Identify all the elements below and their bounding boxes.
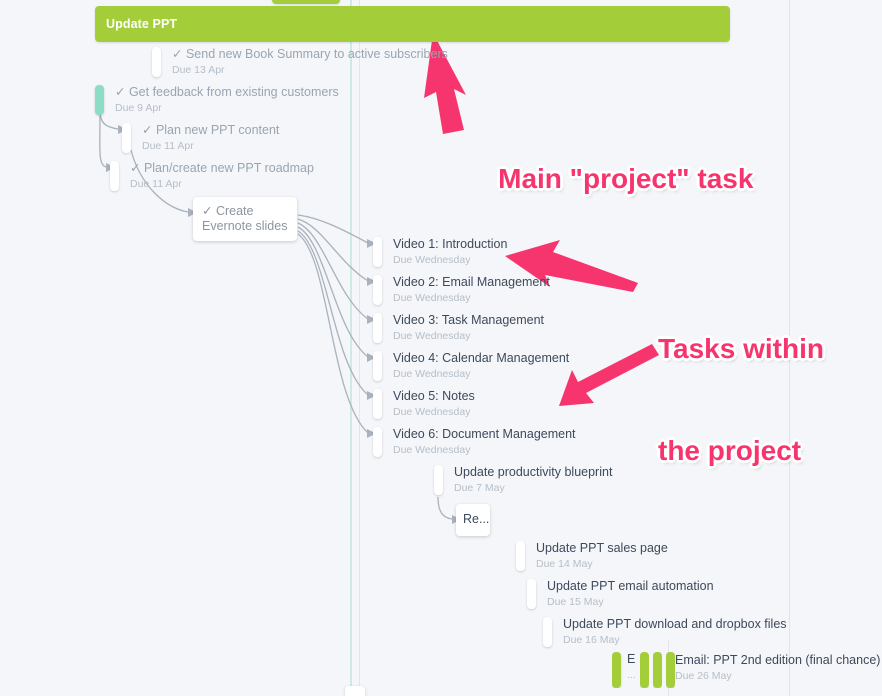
annotation-main-project-task: Main "project" task [467,128,753,230]
task-title: Re... [463,512,483,527]
task-stripe [373,427,382,457]
task-title: Update PPT sales page [536,541,668,556]
task-title: ✓ Create Evernote slides [202,204,288,234]
project-bar-update-ppt[interactable]: Update PPT [95,6,730,42]
task-video-4-calendar-management[interactable]: Video 4: Calendar Management Due Wednesd… [373,351,569,381]
task-title: Video 2: Email Management [393,275,550,290]
task-title: ✓ Send new Book Summary to active subscr… [172,47,448,62]
timeline-canvas[interactable]: Update PPT ✓ Send new Book Summary to ac… [0,0,882,696]
annotation-tasks-within-project: Tasks within the project [658,264,824,536]
task-due: Due 16 May [563,633,787,647]
task-title: ✓ Get feedback from existing customers [115,85,339,100]
task-due: Due 26 May [675,669,880,683]
task-due: Due 11 Apr [130,177,314,191]
task-stripe [373,389,382,419]
task-stripe [666,652,675,688]
project-bar-stub-top[interactable] [272,0,340,4]
task-plan-create-ppt-roadmap[interactable]: ✓ Plan/create new PPT roadmap Due 11 Apr [110,161,314,191]
task-due: Due 13 Apr [172,63,448,77]
task-title: Video 4: Calendar Management [393,351,569,366]
task-due: Due Wednesday [393,329,544,343]
task-due: ... [627,668,637,682]
task-title: ✓ Plan new PPT content [142,123,279,138]
task-stripe [373,351,382,381]
task-mini-green-1[interactable]: E ... [612,652,637,688]
task-due: Due 9 Apr [115,101,339,115]
task-stripe [640,652,649,688]
pointer-arrow-to-video-notes [559,344,659,406]
task-due: Due Wednesday [393,253,507,267]
task-stripe [434,465,443,495]
task-title: Update productivity blueprint [454,465,612,480]
task-stripe [110,161,119,191]
task-stripe [373,237,382,267]
task-stub-bottom-edge[interactable] [345,686,365,696]
task-stripe [152,47,161,77]
task-create-evernote-slides[interactable]: ✓ Create Evernote slides [193,197,297,241]
gridline-teal [350,0,352,696]
task-stripe [653,652,662,688]
task-due: Due Wednesday [393,291,550,305]
task-due: Due 11 Apr [142,139,279,153]
task-due: Due Wednesday [393,405,475,419]
gridline-grey [359,0,360,696]
task-due: Due 7 May [454,481,612,495]
task-due: Due Wednesday [393,443,576,457]
task-get-feedback[interactable]: ✓ Get feedback from existing customers D… [95,85,339,115]
task-email-ppt-2nd-edition[interactable]: Email: PPT 2nd edition (final chance) Du… [675,653,880,683]
task-video-6-document-management[interactable]: Video 6: Document Management Due Wednesd… [373,427,576,457]
annotation-line: Main "project" task [498,163,753,194]
task-stripe [373,313,382,343]
task-stripe [527,579,536,609]
task-title: Video 1: Introduction [393,237,507,252]
task-stripe [95,85,104,115]
task-video-1-introduction[interactable]: Video 1: Introduction Due Wednesday [373,237,507,267]
task-title: Email: PPT 2nd edition (final chance) [675,653,880,668]
task-plan-new-ppt-content[interactable]: ✓ Plan new PPT content Due 11 Apr [122,123,279,153]
task-stripe [543,617,552,647]
task-re-truncated[interactable]: Re... [456,504,490,536]
task-stripe [612,652,621,688]
task-title: E [627,652,637,667]
task-stripe [122,123,131,153]
task-stripe [516,541,525,571]
task-title: Video 5: Notes [393,389,475,404]
annotation-line-2: the project [658,434,824,468]
task-mini-green-4[interactable] [666,652,675,688]
task-title: Update PPT email automation [547,579,714,594]
task-update-ppt-email-automation[interactable]: Update PPT email automation Due 15 May [527,579,714,609]
task-due: Due 14 May [536,557,668,571]
task-update-ppt-sales-page[interactable]: Update PPT sales page Due 14 May [516,541,668,571]
annotation-line-1: Tasks within [658,332,824,366]
task-video-3-task-management[interactable]: Video 3: Task Management Due Wednesday [373,313,544,343]
task-video-2-email-management[interactable]: Video 2: Email Management Due Wednesday [373,275,550,305]
task-update-ppt-download-dropbox[interactable]: Update PPT download and dropbox files Du… [543,617,787,647]
task-mini-green-3[interactable] [653,652,662,688]
task-title: Update PPT download and dropbox files [563,617,787,632]
task-due: Due Wednesday [393,367,569,381]
task-title: Video 6: Document Management [393,427,576,442]
task-video-5-notes[interactable]: Video 5: Notes Due Wednesday [373,389,475,419]
task-stripe [373,275,382,305]
task-mini-green-2[interactable] [640,652,649,688]
project-bar-label: Update PPT [106,17,177,31]
task-title: Video 3: Task Management [393,313,544,328]
task-due: Due 15 May [547,595,714,609]
task-send-book-summary[interactable]: ✓ Send new Book Summary to active subscr… [152,47,448,77]
task-title: ✓ Plan/create new PPT roadmap [130,161,314,176]
task-update-productivity-blueprint[interactable]: Update productivity blueprint Due 7 May [434,465,612,495]
